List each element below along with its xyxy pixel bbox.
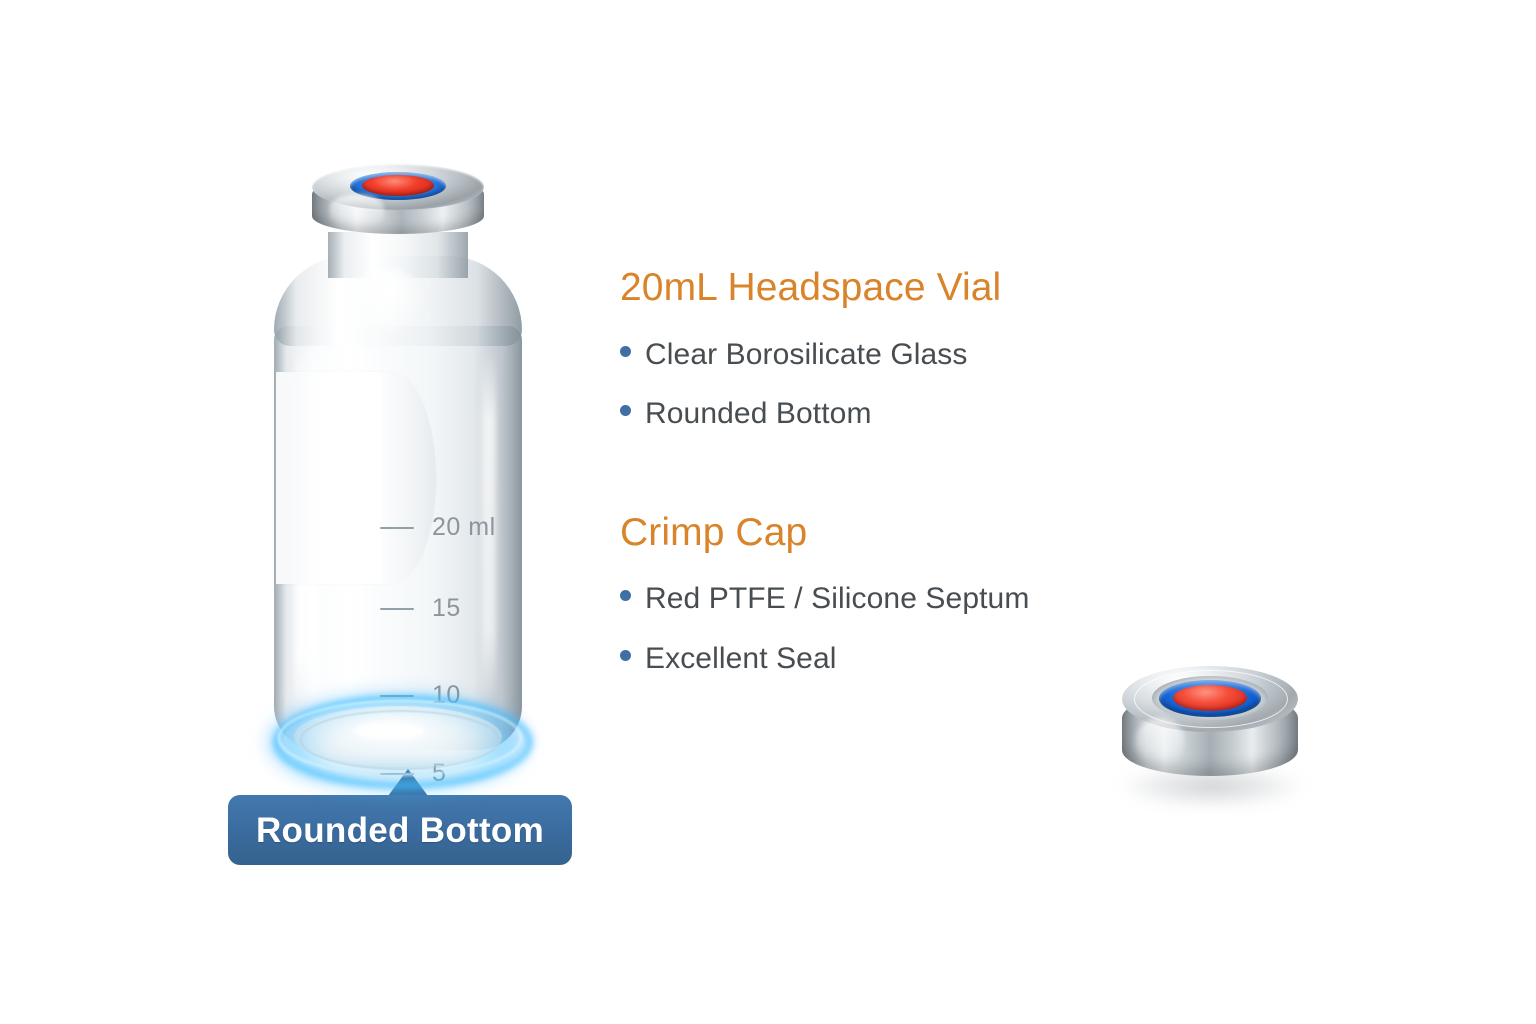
product-info-panel: 20mL Headspace Vial Clear Borosilicate G…: [620, 266, 1260, 677]
cap-sheen: [1136, 718, 1184, 766]
section-vial: 20mL Headspace Vial Clear Borosilicate G…: [620, 266, 1260, 433]
section-cap: Crimp Cap Red PTFE / Silicone Septum Exc…: [620, 511, 1260, 678]
bullet-dot-icon: [620, 590, 631, 601]
feature-item: Clear Borosilicate Glass: [620, 336, 1260, 374]
graduation-mark: 15: [380, 596, 461, 621]
graduation-label: 15: [432, 596, 461, 621]
feature-item: Rounded Bottom: [620, 395, 1260, 433]
feature-label: Rounded Bottom: [645, 395, 872, 433]
headspace-vial-illustration: 20 ml 15 10 5: [250, 150, 540, 790]
feature-item: Red PTFE / Silicone Septum: [620, 580, 1260, 618]
feature-label: Excellent Seal: [645, 640, 837, 678]
graduation-mark: 10: [380, 683, 461, 708]
graduation-tick-icon: [380, 527, 414, 529]
graduation-mark: 20 ml: [380, 515, 496, 540]
section-title-vial: 20mL Headspace Vial: [620, 266, 1260, 310]
graduation-label: 5: [432, 761, 446, 786]
feature-list-vial: Clear Borosilicate Glass Rounded Bottom: [620, 336, 1260, 433]
callout-bubble: Rounded Bottom: [228, 795, 572, 865]
graduation-label: 10: [432, 683, 461, 708]
bullet-dot-icon: [620, 405, 631, 416]
vial-graduation-scale: 20 ml 15 10 5: [250, 150, 540, 790]
graduation-tick-icon: [380, 773, 414, 775]
graduation-mark: 5: [380, 761, 446, 786]
bullet-dot-icon: [620, 650, 631, 661]
section-title-cap: Crimp Cap: [620, 511, 1260, 555]
graduation-tick-icon: [380, 608, 414, 610]
crimp-cap-illustration: [1110, 660, 1310, 825]
infographic-canvas: 20 ml 15 10 5: [0, 0, 1536, 1024]
red-septum-icon: [1173, 685, 1247, 711]
feature-label: Red PTFE / Silicone Septum: [645, 580, 1029, 618]
graduation-label: 20 ml: [432, 515, 496, 540]
bullet-dot-icon: [620, 346, 631, 357]
graduation-tick-icon: [380, 695, 414, 697]
feature-label: Clear Borosilicate Glass: [645, 336, 968, 374]
callout-label: Rounded Bottom: [256, 813, 544, 848]
